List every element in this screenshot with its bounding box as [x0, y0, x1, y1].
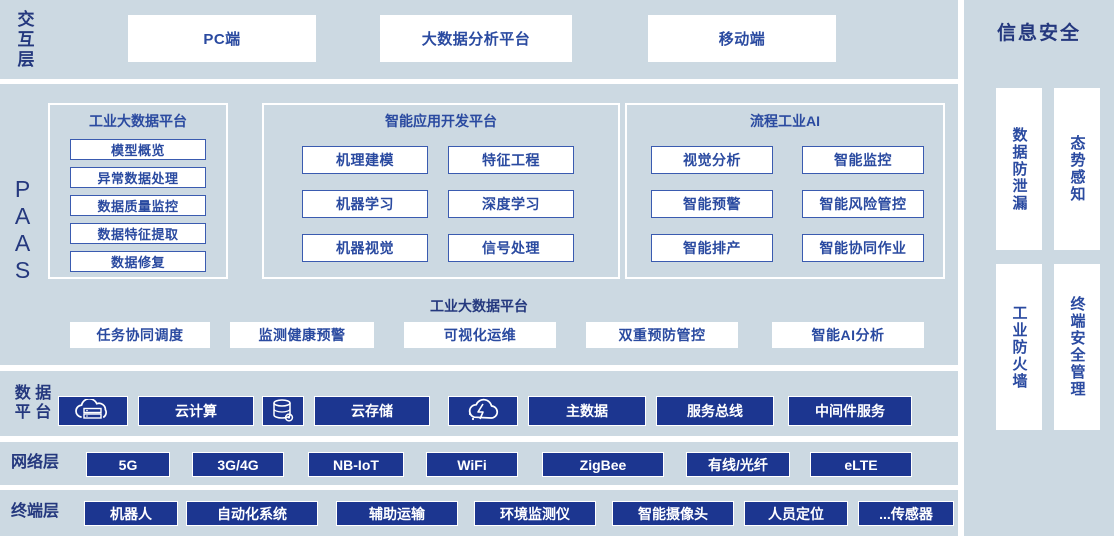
paas-strip-item-ai-analysis-label: 智能AI分析 [812, 325, 885, 345]
data-platform-item-middleware-service-label: 中间件服务 [815, 401, 885, 421]
paas-strip-item-dual-prevention-label: 双重预防管控 [619, 325, 706, 345]
paas-strip-item-ai-analysis[interactable]: 智能AI分析 [772, 322, 924, 348]
data-platform-icon-database-gear[interactable] [262, 396, 304, 426]
paas-item-smart-production-scheduling[interactable]: 智能排产 [651, 234, 773, 262]
paas-item-signal-processing-label: 信号处理 [482, 238, 540, 258]
security-item-data-leak-prevention[interactable]: 数据防泄漏 [996, 88, 1042, 250]
paas-item-smart-monitoring[interactable]: 智能监控 [802, 146, 924, 174]
paas-panel-app-development-title: 智能应用开发平台 [264, 111, 618, 131]
paas-strip-item-visual-ops[interactable]: 可视化运维 [404, 322, 556, 348]
terminal-item-auxiliary-transport[interactable]: 辅助运输 [336, 501, 458, 526]
paas-item-feature-engineering-label: 特征工程 [482, 150, 540, 170]
paas-item-mechanism-modeling[interactable]: 机理建模 [302, 146, 428, 174]
paas-item-smart-risk-control-label: 智能风险管控 [820, 194, 907, 214]
data-platform-icon-cloud-data[interactable] [448, 396, 518, 426]
network-item-nbiot[interactable]: NB-IoT [308, 452, 404, 477]
network-item-elte[interactable]: eLTE [810, 452, 912, 477]
terminal-item-auxiliary-transport-label: 辅助运输 [369, 504, 425, 524]
network-item-5g-label: 5G [119, 457, 138, 473]
paas-item-visual-analysis[interactable]: 视觉分析 [651, 146, 773, 174]
database-gear-icon [270, 398, 296, 424]
terminal-item-environment-monitor-label: 环境监测仪 [500, 504, 570, 524]
network-item-wired-fiber[interactable]: 有线/光纤 [686, 452, 790, 477]
network-item-3g4g-label: 3G/4G [217, 457, 258, 473]
interaction-item-pc-label: PC端 [203, 28, 240, 49]
paas-strip-item-health-warning[interactable]: 监测健康预警 [230, 322, 374, 348]
paas-item-smart-monitoring-label: 智能监控 [834, 150, 892, 170]
terminal-layer-label: 终端层 [4, 503, 66, 521]
paas-panel-process-industry-ai-title: 流程工业AI [627, 111, 943, 131]
paas-label-char-0: P [15, 176, 31, 203]
security-item-terminal-security-management-label: 终端安全管理 [1070, 296, 1085, 398]
information-security-title-text: 信息安全 [997, 23, 1081, 44]
paas-item-model-overview-label: 模型概览 [111, 140, 165, 159]
network-item-elte-label: eLTE [844, 457, 877, 473]
paas-label-char-1: A [15, 203, 31, 230]
paas-item-smart-production-scheduling-label: 智能排产 [683, 238, 741, 258]
paas-item-machine-vision-label: 机器视觉 [336, 238, 394, 258]
paas-item-abnormal-data-label: 异常数据处理 [97, 168, 178, 187]
cloud-data-icon [461, 398, 505, 424]
paas-item-smart-risk-control[interactable]: 智能风险管控 [802, 190, 924, 218]
interaction-layer-label-char-1: 互 [18, 30, 35, 50]
data-platform-item-service-bus[interactable]: 服务总线 [656, 396, 774, 426]
terminal-layer-label-text: 终端层 [11, 503, 59, 520]
paas-item-smart-collaborative-work-label: 智能协同作业 [820, 238, 907, 258]
network-item-wifi[interactable]: WiFi [426, 452, 518, 477]
terminal-item-automation-system[interactable]: 自动化系统 [186, 501, 318, 526]
paas-item-machine-learning[interactable]: 机器学习 [302, 190, 428, 218]
data-platform-label: 数 据 平 台 [4, 383, 62, 425]
paas-item-data-repair[interactable]: 数据修复 [70, 251, 206, 272]
interaction-item-pc[interactable]: PC端 [128, 15, 316, 62]
paas-strip-item-dual-prevention[interactable]: 双重预防管控 [586, 322, 738, 348]
terminal-item-sensors-label: ...传感器 [879, 504, 933, 524]
data-platform-label-line-1: 平 台 [15, 404, 51, 423]
paas-item-feature-engineering[interactable]: 特征工程 [448, 146, 574, 174]
paas-item-deep-learning[interactable]: 深度学习 [448, 190, 574, 218]
paas-strip-item-task-scheduling[interactable]: 任务协同调度 [70, 322, 210, 348]
paas-bottom-strip-title: 工业大数据平台 [0, 298, 958, 314]
terminal-item-sensors[interactable]: ...传感器 [858, 501, 954, 526]
security-item-data-leak-prevention-label: 数据防泄漏 [1012, 127, 1027, 212]
data-platform-item-middleware-service[interactable]: 中间件服务 [788, 396, 912, 426]
network-item-wifi-label: WiFi [457, 457, 486, 473]
terminal-item-personnel-positioning-label: 人员定位 [768, 504, 824, 524]
paas-item-smart-early-warning[interactable]: 智能预警 [651, 190, 773, 218]
paas-item-feature-extraction-label: 数据特征提取 [97, 224, 178, 243]
paas-item-smart-collaborative-work[interactable]: 智能协同作业 [802, 234, 924, 262]
paas-item-deep-learning-label: 深度学习 [482, 194, 540, 214]
paas-item-machine-vision[interactable]: 机器视觉 [302, 234, 428, 262]
paas-label: P A A S [0, 175, 46, 285]
terminal-item-environment-monitor[interactable]: 环境监测仪 [474, 501, 596, 526]
paas-item-feature-extraction[interactable]: 数据特征提取 [70, 223, 206, 244]
paas-item-mechanism-modeling-label: 机理建模 [336, 150, 394, 170]
paas-bottom-strip-title-text: 工业大数据平台 [430, 298, 528, 314]
terminal-item-smart-camera[interactable]: 智能摄像头 [612, 501, 734, 526]
network-item-wired-fiber-label: 有线/光纤 [708, 455, 768, 475]
paas-label-char-2: A [15, 230, 31, 257]
paas-item-signal-processing[interactable]: 信号处理 [448, 234, 574, 262]
interaction-layer-label-char-0: 交 [18, 10, 35, 30]
data-platform-item-cloud-computing-label: 云计算 [175, 401, 217, 421]
interaction-item-mobile-label: 移动端 [719, 28, 766, 49]
paas-item-data-repair-label: 数据修复 [111, 252, 165, 271]
data-platform-item-master-data[interactable]: 主数据 [528, 396, 646, 426]
data-platform-label-line-0: 数 据 [15, 385, 51, 404]
network-item-3g4g[interactable]: 3G/4G [192, 452, 284, 477]
data-platform-item-cloud-storage[interactable]: 云存储 [314, 396, 430, 426]
information-security-title: 信息安全 [964, 18, 1114, 45]
data-platform-item-cloud-storage-label: 云存储 [351, 401, 393, 421]
interaction-layer-label: 交 互 层 [4, 6, 48, 74]
paas-item-visual-analysis-label: 视觉分析 [683, 150, 741, 170]
terminal-item-smart-camera-label: 智能摄像头 [638, 504, 708, 524]
data-platform-icon-cloud-server[interactable] [58, 396, 128, 426]
paas-item-machine-learning-label: 机器学习 [336, 194, 394, 214]
architecture-diagram: 交 互 层 PC端 大数据分析平台 移动端 P A A S 工业大数据平台 模型… [0, 0, 1114, 536]
network-item-nbiot-label: NB-IoT [333, 457, 379, 473]
network-item-zigbee[interactable]: ZigBee [542, 452, 664, 477]
security-item-industrial-firewall[interactable]: 工业防火墙 [996, 264, 1042, 430]
terminal-item-automation-system-label: 自动化系统 [217, 504, 287, 524]
security-item-situational-awareness-label: 态势感知 [1070, 135, 1085, 203]
paas-strip-item-visual-ops-label: 可视化运维 [444, 325, 517, 345]
paas-label-char-3: S [15, 257, 31, 284]
paas-panel-industrial-bigdata-title: 工业大数据平台 [50, 111, 226, 131]
data-platform-item-cloud-computing[interactable]: 云计算 [138, 396, 254, 426]
interaction-item-bigdata-platform[interactable]: 大数据分析平台 [380, 15, 572, 62]
terminal-item-personnel-positioning[interactable]: 人员定位 [744, 501, 848, 526]
security-item-situational-awareness[interactable]: 态势感知 [1054, 88, 1100, 250]
paas-item-smart-early-warning-label: 智能预警 [683, 194, 741, 214]
paas-item-data-quality-label: 数据质量监控 [97, 196, 178, 215]
terminal-item-robot-label: 机器人 [110, 504, 152, 524]
network-layer-label: 网络层 [4, 454, 66, 472]
network-item-5g[interactable]: 5G [86, 452, 170, 477]
cloud-server-icon [71, 399, 115, 423]
data-platform-item-master-data-label: 主数据 [566, 401, 608, 421]
network-item-zigbee-label: ZigBee [580, 457, 627, 473]
interaction-layer-label-char-2: 层 [18, 50, 35, 70]
network-layer-label-text: 网络层 [11, 454, 59, 471]
paas-strip-item-health-warning-label: 监测健康预警 [259, 325, 346, 345]
data-platform-item-service-bus-label: 服务总线 [687, 401, 743, 421]
security-item-terminal-security-management[interactable]: 终端安全管理 [1054, 264, 1100, 430]
terminal-item-robot[interactable]: 机器人 [84, 501, 178, 526]
security-item-industrial-firewall-label: 工业防火墙 [1012, 305, 1027, 390]
paas-item-model-overview[interactable]: 模型概览 [70, 139, 206, 160]
paas-item-abnormal-data[interactable]: 异常数据处理 [70, 167, 206, 188]
interaction-item-bigdata-platform-label: 大数据分析平台 [422, 28, 531, 49]
interaction-item-mobile[interactable]: 移动端 [648, 15, 836, 62]
paas-strip-item-task-scheduling-label: 任务协同调度 [97, 325, 184, 345]
paas-item-data-quality[interactable]: 数据质量监控 [70, 195, 206, 216]
